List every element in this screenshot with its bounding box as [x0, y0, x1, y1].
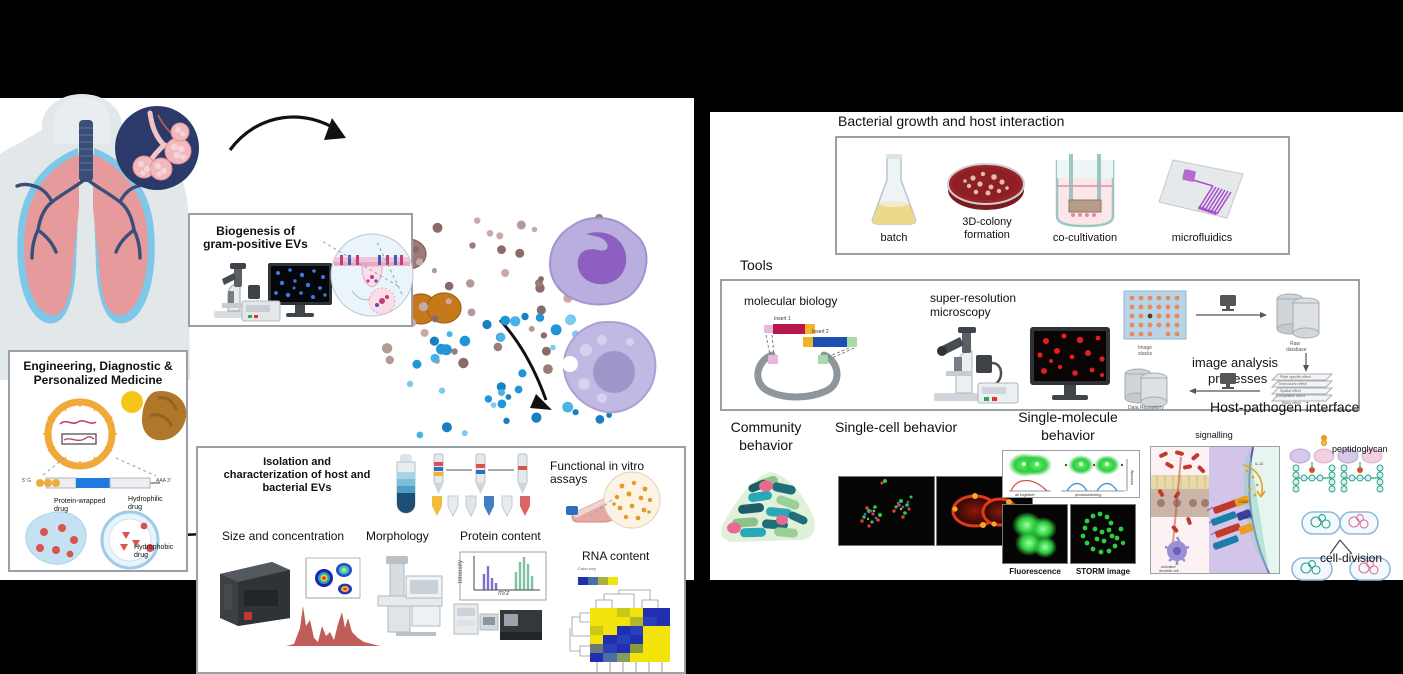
svg-text:Timecolumn effect: Timecolumn effect [1278, 382, 1307, 386]
growth-label-colony-line1: 3D-colony formation [941, 216, 1033, 241]
tools-label-superres-line1: super-resolution microscopy [930, 291, 1070, 320]
macrophage-cell [548, 216, 648, 306]
behavior-title-single-molecule-line1: Single-molecule [998, 410, 1138, 426]
behavior-title-community-line2: behavior [716, 438, 816, 454]
behavior-title-host-pathogen: Host-pathogen interface [1210, 400, 1359, 416]
right-panel: Bacterial growth and host interaction ba… [710, 112, 1403, 580]
storm-image-right [1070, 504, 1136, 564]
zoom-leader-lines [280, 238, 410, 298]
mass-spec-x-axis-label: m/z [498, 590, 510, 598]
rna-heatmap-grid [590, 608, 670, 662]
svg-text:CD28: CD28 [1243, 516, 1252, 520]
alveoli-inset-circle [114, 105, 200, 191]
growth-label-microfluidics: microfluidics [1147, 232, 1257, 244]
petri-dish-icon [947, 160, 1025, 212]
svg-text:Competition effect: Competition effect [1276, 394, 1305, 398]
isolation-box: Isolation and characterization of host a… [196, 446, 686, 674]
svg-text:Insert 2: Insert 2 [812, 329, 829, 335]
svg-text:Intensity: Intensity [1129, 470, 1134, 485]
flow-arrow-top [228, 106, 358, 166]
figure-canvas: Biogenesis of gram-positive EVs [0, 0, 1403, 580]
tools-label-molecular-biology: molecular biology [744, 295, 837, 308]
svg-text:IL-12: IL-12 [1255, 462, 1263, 466]
cell-division-diagram [1286, 510, 1402, 586]
growth-label-batch: batch [861, 232, 927, 244]
construct-3prime-label: AAA 3' [156, 479, 171, 485]
transwell-plate-icon [1049, 152, 1121, 228]
rna-heatmap-row-dendrogram [568, 608, 590, 662]
label-rna-content: RNA content [582, 550, 649, 563]
svg-text:all together: all together [1015, 492, 1035, 497]
protein-wrapped-drug-icon [22, 510, 94, 568]
data-pipeline-icon: Image stacks [1120, 287, 1356, 409]
rna-heatmap-legend-label: Color key [578, 567, 596, 571]
isolation-title-line1: Isolation and [204, 456, 390, 468]
construct-5prime-label: 5' G [22, 479, 31, 485]
svg-text:photoswitching: photoswitching [1075, 492, 1101, 497]
single-molecule-schematic-box: all together photoswitching Intensity [1002, 450, 1140, 498]
label-protein-content: Protein content [460, 530, 541, 543]
label-storm-image: STORM image [1070, 568, 1136, 577]
label-cell-division: cell-division [1320, 552, 1382, 565]
fluorescence-storm-left [1002, 504, 1068, 564]
svg-text:database: database [1286, 347, 1307, 353]
svg-text:dendritic cell: dendritic cell [1159, 569, 1179, 573]
label-size-concentration: Size and concentration [222, 530, 344, 543]
rna-heatmap-dendrogram [590, 588, 670, 608]
biofilm-cluster-icon [718, 470, 820, 546]
behavior-title-community-line1: Community [716, 420, 816, 436]
construct-leader-lines [20, 456, 178, 478]
hydrophobic-drug-label: Hydrophobic drug [134, 544, 184, 560]
growth-box: batch 3D-colony formation [835, 136, 1290, 255]
protein-blob-icon [120, 388, 190, 444]
gradient-tube-icon [394, 454, 418, 516]
label-signalling: signalling [1154, 430, 1274, 440]
engineering-box: Engineering, Diagnostic & Personalized M… [8, 350, 188, 572]
isolation-title-line3: bacterial EVs [204, 482, 390, 494]
erlenmeyer-flask-icon [869, 154, 919, 226]
left-panel: Biogenesis of gram-positive EVs [0, 98, 694, 580]
growth-label-cocultivation: co-cultivation [1033, 232, 1137, 244]
drug-loaded-vesicle-icon [96, 510, 166, 570]
svg-text:Spatial effect: Spatial effect [1280, 389, 1301, 393]
svg-text:stacks: stacks [1138, 351, 1153, 357]
svg-text:CD40: CD40 [1239, 500, 1248, 504]
microscope-monitor-icon [912, 327, 1112, 405]
rna-heatmap-legend [578, 572, 620, 586]
microfluidic-chip-icon [1155, 156, 1247, 224]
svg-text:processes: processes [1208, 371, 1268, 386]
svg-text:image analysis: image analysis [1192, 355, 1278, 370]
plasmid-construct-icon: Insert 1 Insert 2 [750, 311, 860, 397]
assay-leader-line [590, 498, 614, 522]
control-unit-icon [242, 301, 280, 321]
behavior-title-single-cell: Single-cell behavior [835, 420, 957, 436]
behavior-title-single-molecule-line2: behavior [998, 428, 1138, 444]
size-distribution-trace [284, 598, 388, 648]
label-morphology: Morphology [366, 530, 429, 543]
engineering-title-line1: Engineering, Diagnostic & [10, 360, 186, 373]
tools-box: molecular biology Insert 1 [720, 279, 1360, 411]
svg-text:Plate specific effect: Plate specific effect [1280, 375, 1311, 379]
label-fluorescence: Fluorescence [1002, 568, 1068, 577]
label-peptidoglycan: peptidoglycan [1332, 444, 1388, 454]
nta-instrument-icon [218, 560, 292, 628]
svg-text:Insert 1: Insert 1 [774, 316, 791, 322]
engineering-title-line2: Personalized Medicine [10, 374, 186, 387]
host-pathogen-schematic: Activated dendritic cell [1150, 446, 1280, 574]
hydrophilic-drug-label: Hydrophilic drug [128, 496, 178, 512]
tools-section-title: Tools [740, 258, 773, 274]
isolation-title-line2: characterization of host and [204, 469, 390, 481]
rna-heatmap-column-ticks [590, 662, 670, 674]
lcms-instrument-icon [454, 596, 544, 648]
fluorescence-image-left [838, 476, 935, 546]
electron-microscope-icon [376, 556, 454, 636]
epithelial-cell [562, 320, 658, 416]
growth-section-title: Bacterial growth and host interaction [838, 114, 1064, 130]
